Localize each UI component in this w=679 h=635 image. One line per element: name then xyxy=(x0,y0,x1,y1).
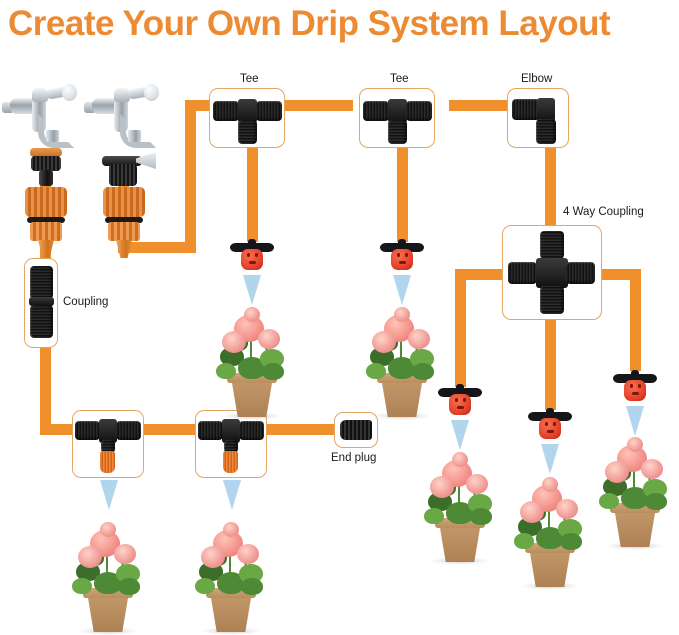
plant-leaf xyxy=(645,493,667,510)
sprinkler-outlet-icon xyxy=(547,430,554,433)
pipe-drop-tee2 xyxy=(397,146,408,242)
plant-bloom xyxy=(452,452,468,467)
tee-nut-right-icon xyxy=(256,101,282,121)
valve-body-icon xyxy=(109,164,137,186)
sprinkler-port-left-icon xyxy=(397,253,400,257)
tee-nut-left-icon xyxy=(198,421,223,440)
plant-bloom xyxy=(258,329,280,349)
plant-bloom xyxy=(520,501,544,523)
plant-leaf xyxy=(514,533,534,549)
plant-bloom xyxy=(201,546,225,568)
four-way-coupling-box[interactable] xyxy=(502,225,602,320)
cross-hub-icon xyxy=(536,258,568,288)
pipe-cross-right-drop xyxy=(630,269,641,371)
tee-bottom-1-box[interactable] xyxy=(72,410,144,478)
tee-nut-left-icon xyxy=(363,101,389,121)
plant-bloom xyxy=(78,546,102,568)
plant-leaf xyxy=(366,363,386,379)
plant-bloom xyxy=(372,331,396,353)
sprinkler-head-7 xyxy=(613,374,657,410)
plant-leaf xyxy=(470,508,492,525)
potted-plant-3 xyxy=(56,500,160,632)
sprinkler-outlet-icon xyxy=(632,392,639,395)
pipe-tee2-to-elbow xyxy=(449,100,509,111)
water-jet-3 xyxy=(100,480,118,510)
elbow-nut-bottom-icon xyxy=(536,119,556,144)
plant-leaf xyxy=(424,508,444,524)
cross-nut-bottom-icon xyxy=(540,286,564,314)
plant-bloom xyxy=(408,329,430,349)
plant-leaf xyxy=(216,363,236,379)
plant-bloom xyxy=(430,476,454,498)
sprinkler-port-left-icon xyxy=(455,398,458,402)
faucet-outlet-icon xyxy=(128,130,141,142)
tee-1-box[interactable] xyxy=(209,88,285,148)
drip-emitter-icon xyxy=(223,451,238,473)
plant-bloom xyxy=(114,544,136,564)
coupling-nut-top-icon xyxy=(30,266,53,299)
sprinkler-outlet-icon xyxy=(457,406,464,409)
plant-bloom xyxy=(394,307,410,322)
adapter-tail-icon xyxy=(116,240,132,258)
plant-bloom xyxy=(466,474,488,494)
elbow-label: Elbow xyxy=(521,73,552,85)
coupling-nut-bottom-icon xyxy=(30,305,53,338)
plant-bloom xyxy=(641,459,663,479)
adapter-black-nut-icon xyxy=(31,156,61,171)
plant-leaf xyxy=(241,578,263,595)
sprinkler-port-left-icon xyxy=(545,422,548,426)
adapter-tail-icon xyxy=(38,240,54,258)
sprinkler-port-right-icon xyxy=(255,253,258,257)
elbow-box[interactable] xyxy=(507,88,569,148)
sprinkler-head-2 xyxy=(380,243,424,279)
plant-bloom xyxy=(223,522,239,537)
plant-leaf xyxy=(118,578,140,595)
tee-2-label: Tee xyxy=(390,73,409,85)
plant-leaf xyxy=(72,578,92,594)
tee-nut-bottom-icon xyxy=(388,120,407,144)
adapter-neck-icon xyxy=(39,170,53,186)
potted-plant-7 xyxy=(583,415,679,547)
pipe-bottom-row-2 xyxy=(263,424,339,435)
coupling-label: Coupling xyxy=(63,296,108,308)
potted-plant-4 xyxy=(179,500,283,632)
sprinkler-port-right-icon xyxy=(553,422,556,426)
drip-emitter-icon xyxy=(100,451,115,473)
plant-pot xyxy=(210,592,252,632)
plant-bloom xyxy=(222,331,246,353)
cross-nut-right-icon xyxy=(566,262,595,284)
plant-leaf xyxy=(560,533,582,550)
tee-2-box[interactable] xyxy=(359,88,435,148)
pipe-drop-tee1 xyxy=(247,146,258,242)
tee-nut-left-icon xyxy=(75,421,100,440)
plant-leaf xyxy=(262,363,284,380)
pipe-up-to-tee1 xyxy=(185,100,196,250)
plant-bloom xyxy=(556,499,578,519)
sprinkler-body-icon xyxy=(449,394,471,415)
tee-nut-right-icon xyxy=(116,421,141,440)
sprinkler-port-right-icon xyxy=(405,253,408,257)
faucet-handle-knob-icon xyxy=(144,84,159,101)
plant-bloom xyxy=(244,307,260,322)
tee-nut-left-icon xyxy=(213,101,239,121)
adapter-orange-base-icon xyxy=(30,222,62,241)
tap-adapter-valve-connector xyxy=(96,148,152,258)
end-plug-label: End plug xyxy=(331,452,376,464)
faucet-handle-knob-icon xyxy=(62,84,77,101)
sprinkler-body-icon xyxy=(539,418,561,439)
coupling-box[interactable] xyxy=(24,258,58,348)
potted-plant-1 xyxy=(200,285,304,417)
four-way-coupling-label: 4 Way Coupling xyxy=(563,206,644,218)
sprinkler-port-right-icon xyxy=(463,398,466,402)
plant-bloom xyxy=(237,544,259,564)
sprinkler-port-right-icon xyxy=(638,384,641,388)
tee-bottom-2-box[interactable] xyxy=(195,410,267,478)
faucet-right xyxy=(84,84,162,146)
adapter-orange-base-icon xyxy=(108,222,140,241)
cross-nut-top-icon xyxy=(540,231,564,259)
faucet-left xyxy=(2,84,80,146)
sprinkler-body-icon xyxy=(391,249,413,270)
plant-bloom xyxy=(627,437,643,452)
plant-pot xyxy=(439,522,481,562)
water-jet-4 xyxy=(223,480,241,510)
plant-leaf xyxy=(195,578,215,594)
sprinkler-head-6 xyxy=(528,412,572,448)
pipe-cross-left-drop xyxy=(455,269,466,387)
faucet-outlet-icon xyxy=(46,130,59,142)
plant-pot xyxy=(231,377,273,417)
page-title: Create Your Own Drip System Layout xyxy=(8,2,672,46)
drip-system-diagram: Create Your Own Drip System Layout xyxy=(0,0,679,625)
tee-nut-bottom-icon xyxy=(238,120,257,144)
plant-bloom xyxy=(100,522,116,537)
sprinkler-port-left-icon xyxy=(630,384,633,388)
plant-leaf xyxy=(599,493,619,509)
plant-bloom xyxy=(542,477,558,492)
tee-nut-right-icon xyxy=(239,421,264,440)
sprinkler-outlet-icon xyxy=(249,261,256,264)
sprinkler-body-icon xyxy=(241,249,263,270)
sprinkler-port-left-icon xyxy=(247,253,250,257)
plant-pot xyxy=(529,547,571,587)
pipe-left-vertical-bottom xyxy=(40,345,51,435)
tee-nut-right-icon xyxy=(406,101,432,121)
tee-1-label: Tee xyxy=(240,73,259,85)
valve-handle-icon xyxy=(136,152,156,169)
plant-pot xyxy=(614,507,656,547)
plant-pot xyxy=(87,592,129,632)
adapter-orange-collar-icon xyxy=(25,187,67,217)
elbow-nut-left-icon xyxy=(512,99,540,120)
sprinkler-head-1 xyxy=(230,243,274,279)
cross-nut-left-icon xyxy=(508,262,537,284)
tap-adapter-quick-connector xyxy=(18,148,74,258)
plant-leaf xyxy=(412,363,434,380)
sprinkler-outlet-icon xyxy=(399,261,406,264)
potted-plant-5 xyxy=(408,430,512,562)
sprinkler-body-icon xyxy=(624,380,646,401)
end-plug-icon xyxy=(340,420,372,440)
plant-pot xyxy=(381,377,423,417)
sprinkler-head-5 xyxy=(438,388,482,424)
pipe-bottom-row-1 xyxy=(142,424,198,435)
pipe-tee1-to-tee2 xyxy=(285,100,353,111)
plant-bloom xyxy=(605,461,629,483)
adapter-orange-collar-icon xyxy=(103,187,145,217)
